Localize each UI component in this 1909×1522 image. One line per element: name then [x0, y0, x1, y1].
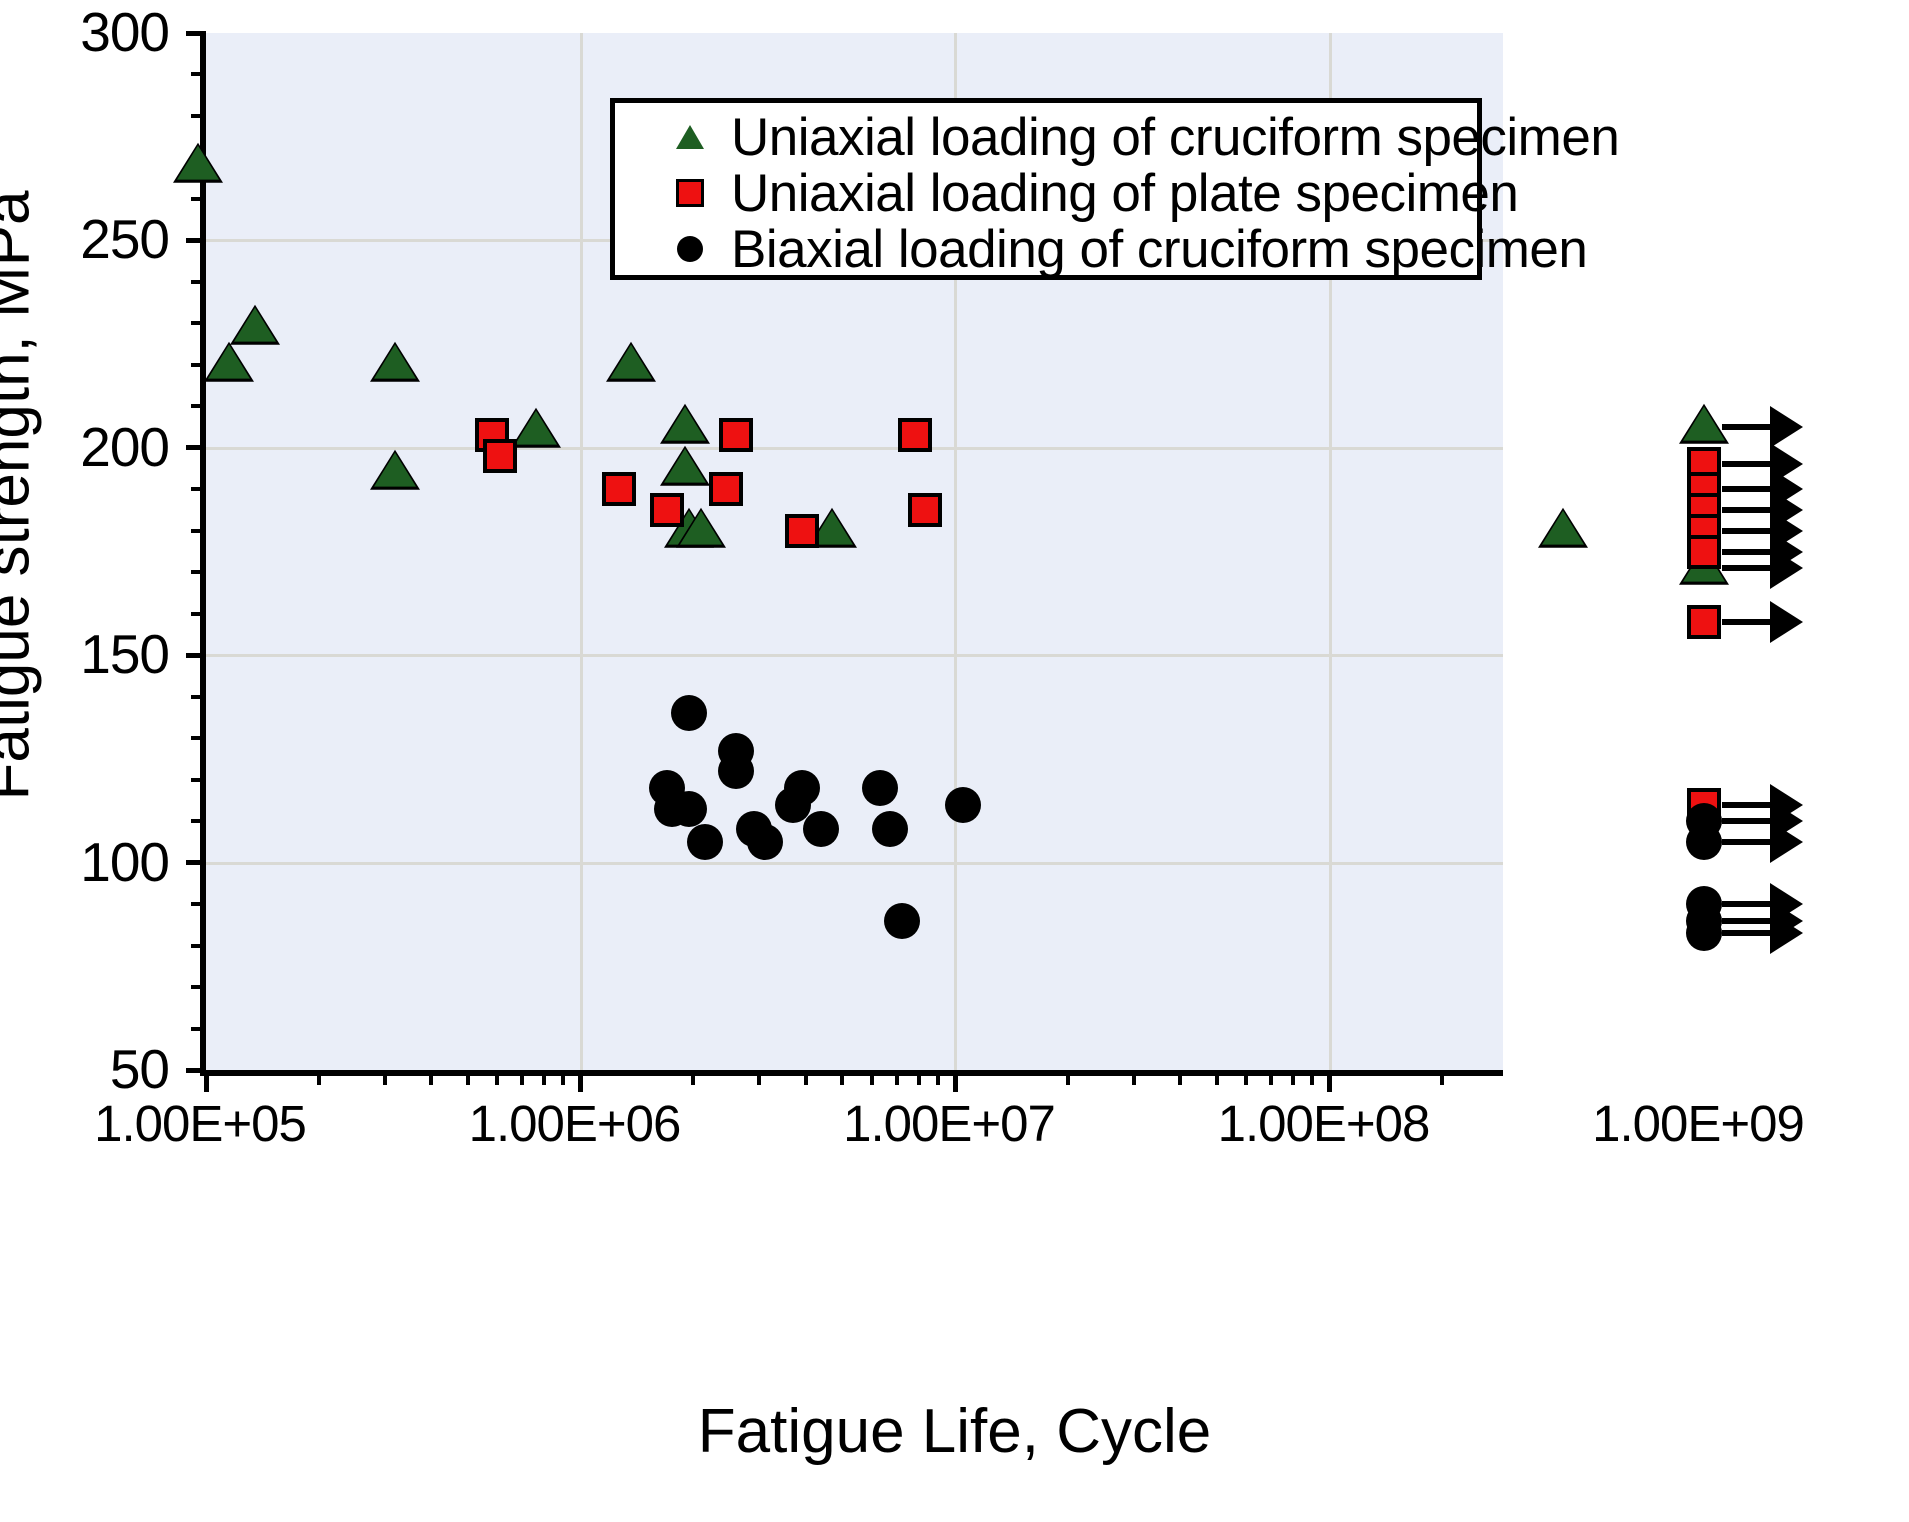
- x-tick-major: [1327, 1070, 1332, 1092]
- runout-arrow-shaft: [1722, 424, 1774, 430]
- data-point-square: [709, 472, 743, 506]
- x-tick-minor: [317, 1070, 321, 1085]
- x-axis-title: Fatigue Life, Cycle: [0, 1396, 1909, 1467]
- data-point-circle: [945, 787, 981, 823]
- triangle-icon: [667, 125, 713, 149]
- x-tick-minor: [561, 1070, 565, 1085]
- data-point-circle: [671, 695, 707, 731]
- runout-arrow-shaft: [1722, 818, 1774, 824]
- data-point-circle: [884, 903, 920, 939]
- data-point-triangle: [374, 452, 416, 486]
- y-tick-major: [186, 238, 206, 243]
- square-icon: [667, 179, 713, 207]
- y-tick-minor: [191, 902, 206, 906]
- data-point-triangle: [1683, 407, 1725, 441]
- data-point-square: [898, 418, 932, 452]
- y-tick-minor: [191, 404, 206, 408]
- y-tick-label: 150: [9, 627, 169, 682]
- data-point-triangle: [177, 145, 219, 179]
- x-tick-minor: [429, 1070, 433, 1085]
- runout-arrow-shaft: [1722, 930, 1774, 936]
- x-tick-label: 1.00E+07: [789, 1098, 1109, 1149]
- x-tick-minor: [895, 1070, 899, 1085]
- x-tick-minor: [840, 1070, 844, 1085]
- x-tick-major: [953, 1070, 958, 1092]
- gridline-horizontal: [206, 654, 1503, 657]
- x-tick-minor: [1244, 1070, 1248, 1085]
- runout-arrow-shaft: [1722, 549, 1774, 555]
- y-tick-minor: [191, 321, 206, 325]
- y-tick-minor: [191, 487, 206, 491]
- data-point-circle: [687, 824, 723, 860]
- x-tick-label: 1.00E+05: [40, 1098, 360, 1149]
- data-point-square: [1687, 535, 1721, 569]
- runout-arrow-shaft: [1722, 918, 1774, 924]
- data-point-square: [785, 514, 819, 548]
- data-point-triangle: [515, 411, 557, 445]
- y-tick-minor: [191, 695, 206, 699]
- x-tick-minor: [1440, 1070, 1444, 1085]
- y-tick-label: 100: [9, 835, 169, 890]
- x-tick-minor: [542, 1070, 546, 1085]
- x-tick-minor: [917, 1070, 921, 1085]
- y-tick-major: [186, 445, 206, 450]
- data-point-circle: [872, 811, 908, 847]
- x-tick-minor: [757, 1070, 761, 1085]
- data-point-circle: [862, 770, 898, 806]
- y-tick-minor: [191, 197, 206, 201]
- fatigue-scatter-chart: Fatigue strength, MPa 300 250 200 150 10…: [0, 0, 1909, 1522]
- data-point-square: [908, 493, 942, 527]
- y-tick-minor: [191, 819, 206, 823]
- data-point-triangle: [664, 407, 706, 441]
- data-point-triangle: [374, 344, 416, 378]
- y-tick-minor: [191, 280, 206, 284]
- y-tick-minor: [191, 570, 206, 574]
- runout-arrow-head: [1770, 531, 1803, 573]
- y-tick-minor: [191, 114, 206, 118]
- x-tick-major: [578, 1070, 583, 1092]
- x-tick-label: 1.00E+06: [415, 1098, 735, 1149]
- x-tick-minor: [520, 1070, 524, 1085]
- x-tick-minor: [383, 1070, 387, 1085]
- x-tick-minor: [1066, 1070, 1070, 1085]
- y-tick-label: 300: [9, 5, 169, 60]
- runout-arrow-shaft: [1722, 565, 1774, 571]
- data-point-triangle: [664, 448, 706, 482]
- legend-item-label: Biaxial loading of cruciform specimen: [731, 223, 1587, 276]
- chart-legend: Uniaxial loading of cruciform specimen U…: [610, 98, 1482, 280]
- x-tick-minor: [1269, 1070, 1273, 1085]
- x-tick-minor: [1132, 1070, 1136, 1085]
- runout-arrow-head: [1770, 821, 1803, 863]
- y-tick-label: 50: [9, 1042, 169, 1097]
- data-point-square: [483, 439, 517, 473]
- y-tick-minor: [191, 72, 206, 76]
- data-point-square: [719, 418, 753, 452]
- x-tick-minor: [804, 1070, 808, 1085]
- data-point-circle: [1686, 915, 1722, 951]
- runout-arrow-shaft: [1722, 901, 1774, 907]
- x-tick-minor: [870, 1070, 874, 1085]
- x-tick-minor: [936, 1070, 940, 1085]
- runout-arrow-shaft: [1722, 839, 1774, 845]
- y-tick-minor: [191, 944, 206, 948]
- legend-item-uniaxial-plate: Uniaxial loading of plate specimen: [615, 165, 1477, 221]
- data-point-circle: [775, 787, 811, 823]
- y-tick-label: 250: [9, 212, 169, 267]
- data-point-triangle: [1542, 510, 1584, 544]
- y-tick-minor: [191, 1027, 206, 1031]
- runout-arrow-shaft: [1722, 507, 1774, 513]
- runout-arrow-shaft: [1722, 528, 1774, 534]
- y-tick-major: [186, 31, 206, 36]
- data-point-square: [650, 493, 684, 527]
- runout-arrow-head: [1770, 912, 1803, 954]
- data-point-circle: [1686, 824, 1722, 860]
- y-tick-minor: [191, 985, 206, 989]
- legend-item-label: Uniaxial loading of plate specimen: [731, 167, 1518, 220]
- gridline-horizontal: [206, 862, 1503, 865]
- y-tick-minor: [191, 736, 206, 740]
- y-tick-minor: [191, 612, 206, 616]
- data-point-triangle: [680, 510, 722, 544]
- x-tick-minor: [1291, 1070, 1295, 1085]
- data-point-circle: [803, 811, 839, 847]
- x-tick-minor: [1310, 1070, 1314, 1085]
- x-tick-minor: [1215, 1070, 1219, 1085]
- x-tick-major: [204, 1070, 209, 1092]
- data-point-square: [1687, 605, 1721, 639]
- gridline-vertical: [580, 33, 583, 1070]
- data-point-circle: [747, 824, 783, 860]
- y-tick-minor: [191, 778, 206, 782]
- legend-item-label: Uniaxial loading of cruciform specimen: [731, 111, 1619, 164]
- runout-arrow-head: [1770, 406, 1803, 448]
- x-tick-minor: [691, 1070, 695, 1085]
- circle-icon: [667, 236, 713, 262]
- data-point-triangle: [610, 344, 652, 378]
- data-point-triangle: [208, 344, 250, 378]
- x-tick-minor: [466, 1070, 470, 1085]
- data-point-circle: [671, 791, 707, 827]
- data-point-square: [602, 472, 636, 506]
- data-point-circle: [718, 753, 754, 789]
- runout-arrow-shaft: [1722, 461, 1774, 467]
- data-point-triangle: [234, 307, 276, 341]
- x-tick-minor: [1178, 1070, 1182, 1085]
- y-tick-major: [186, 860, 206, 865]
- x-tick-label: 1.00E+09: [1538, 1098, 1858, 1149]
- runout-arrow-shaft: [1722, 486, 1774, 492]
- runout-arrow-head: [1770, 601, 1803, 643]
- y-tick-major: [186, 653, 206, 658]
- runout-arrow-shaft: [1722, 619, 1774, 625]
- x-tick-label: 1.00E+08: [1164, 1098, 1484, 1149]
- legend-item-biaxial-cruciform: Biaxial loading of cruciform specimen: [615, 221, 1477, 277]
- runout-arrow-shaft: [1722, 802, 1774, 808]
- y-tick-minor: [191, 529, 206, 533]
- x-tick-minor: [495, 1070, 499, 1085]
- y-tick-label: 200: [9, 420, 169, 475]
- legend-item-uniaxial-cruciform: Uniaxial loading of cruciform specimen: [615, 109, 1477, 165]
